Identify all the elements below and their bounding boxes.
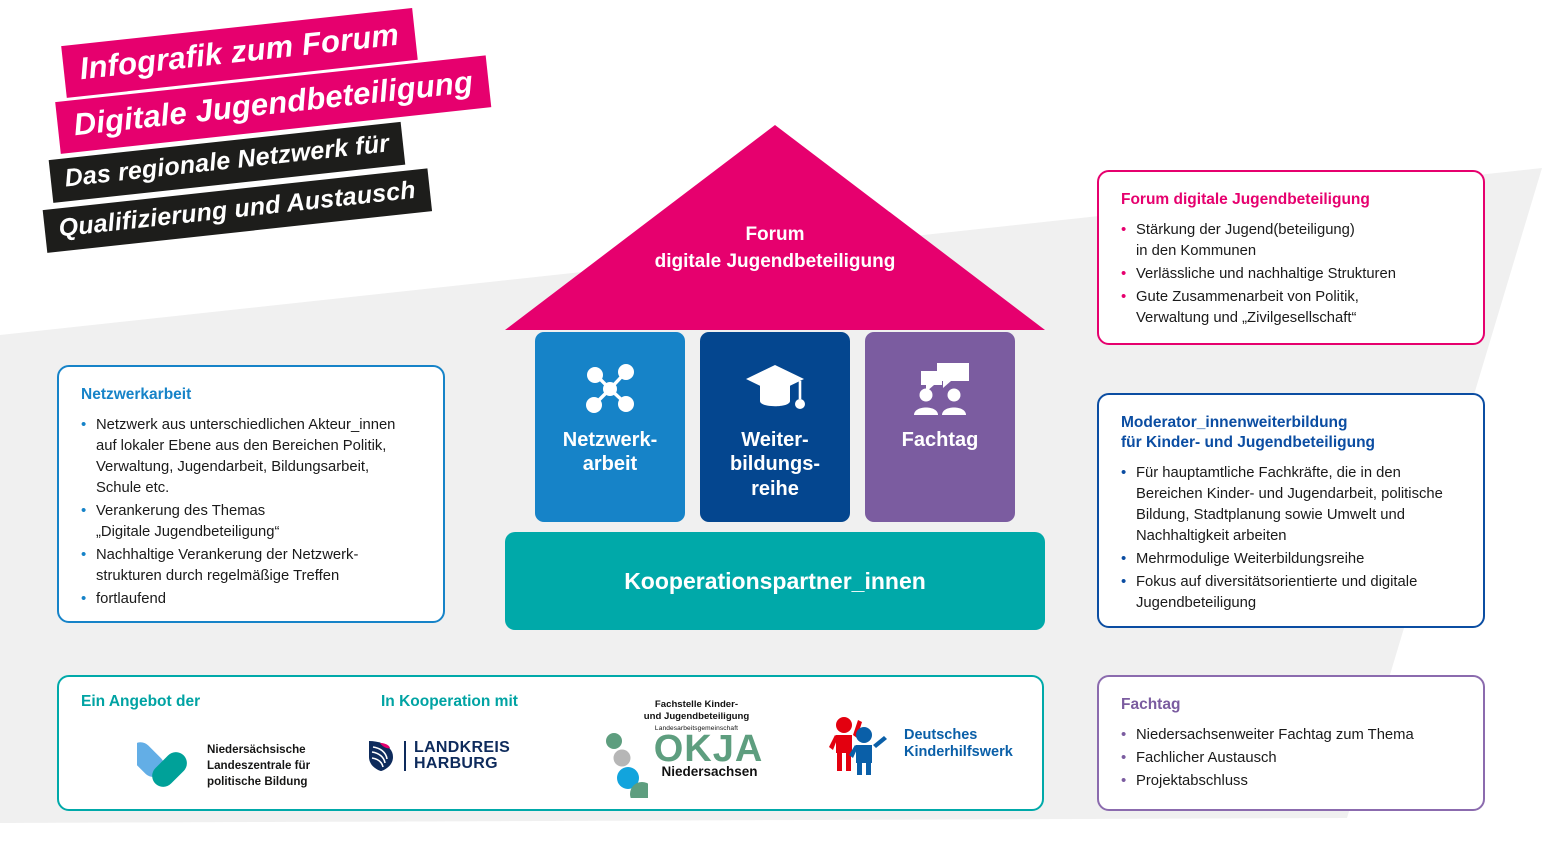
list-item: Fokus auf diversitätsorientierte und dig… [1121,572,1461,614]
logo-niedersaechsische-landeszentrale: Niedersächsische Landeszentrale für poli… [137,730,310,802]
pillar-label-netzwerkarbeit: Netzwerk- arbeit [563,428,657,477]
list-item: Fachlicher Austausch [1121,748,1461,769]
list-item: Niedersachsenweiter Fachtag zum Thema [1121,725,1461,746]
list-item: Netzwerk aus unterschiedlichen Akteur_in… [81,415,421,499]
list-item: Gute Zusammenarbeit von Politik, Verwalt… [1121,287,1461,329]
graduation-cap-icon [744,358,806,420]
card-list-moderation: Für hauptamtliche Fachkräfte, die in den… [1121,463,1461,614]
card-list-fachtag: Niedersachsenweiter Fachtag zum Thema Fa… [1121,725,1461,792]
house-roof-triangle [505,125,1045,330]
list-item: fortlaufend [81,589,421,610]
list-item: Verankerung des Themas „Digitale Jugendb… [81,501,421,543]
logo-divider [404,741,406,771]
network-nodes-icon [581,358,639,420]
pillar-fachtag[interactable]: Fachtag [865,332,1015,522]
list-item: Projektabschluss [1121,771,1461,792]
two-children-figures-icon [824,713,896,775]
card-fachtag: Fachtag Niedersachsenweiter Fachtag zum … [1097,675,1485,811]
logo-okja-niedersachsen: Fachstelle Kinder- und Jugendbeteiligung… [604,699,789,779]
logo-landkreis-harburg: LANDKREIS HARBURG [366,739,510,773]
landkreis-name: LANDKREIS HARBURG [414,740,510,773]
partner-heading-offer: Ein Angebot der [81,693,200,711]
dkhw-name: Deutsches Kinderhilfswerk [904,727,1013,760]
card-netzwerkarbeit: Netzwerkarbeit Netzwerk aus unterschiedl… [57,365,445,623]
house-base-kooperationspartner[interactable]: Kooperationspartner_innen [505,532,1045,630]
card-heading-forum: Forum digitale Jugendbeteiligung [1121,190,1461,210]
house-pillars: Netzwerk- arbeit Weiter- bildungs- reihe [535,332,1015,522]
pillar-weiterbildungsreihe[interactable]: Weiter- bildungs- reihe [700,332,850,522]
list-item: Verlässliche und nachhaltige Strukturen [1121,264,1461,285]
list-item: Für hauptamtliche Fachkräfte, die in den… [1121,463,1461,547]
nlpb-chevron-logo-icon [137,730,195,802]
partner-heading-cooperation: In Kooperation mit [381,693,518,711]
okja-wordmark: OKJA [628,732,789,767]
base-label: Kooperationspartner_innen [624,568,926,595]
pillar-label-weiterbildungsreihe: Weiter- bildungs- reihe [730,428,820,501]
list-item: Stärkung der Jugend(beteiligung) in den … [1121,220,1461,262]
card-forum-digitale-jugendbeteiligung: Forum digitale Jugendbeteiligung Stärkun… [1097,170,1485,345]
card-heading-netzwerkarbeit: Netzwerkarbeit [81,385,421,405]
card-moderator-innenweiterbildung: Moderator_innenweiterbildung für Kinder-… [1097,393,1485,628]
people-speech-bubbles-icon [909,358,971,420]
card-heading-fachtag: Fachtag [1121,695,1461,715]
okja-dots-icon [602,732,648,798]
card-list-forum: Stärkung der Jugend(beteiligung) in den … [1121,220,1461,329]
okja-heading: Fachstelle Kinder- und Jugendbeteiligung [604,699,789,724]
nlpb-name: Niedersächsische Landeszentrale für poli… [207,742,310,790]
pillar-netzwerkarbeit[interactable]: Netzwerk- arbeit [535,332,685,522]
landkreis-harburg-crest-icon [366,739,396,773]
card-list-netzwerkarbeit: Netzwerk aus unterschiedlichen Akteur_in… [81,415,421,610]
infographic-root: Infografik zum Forum Digitale Jugendbete… [0,0,1542,867]
logo-deutsches-kinderhilfswerk: Deutsches Kinderhilfswerk [824,713,1013,775]
list-item: Mehrmodulige Weiterbildungsreihe [1121,549,1461,570]
list-item: Nachhaltige Verankerung der Netzwerk- st… [81,545,421,587]
card-heading-moderation: Moderator_innenweiterbildung für Kinder-… [1121,413,1461,453]
pillar-label-fachtag: Fachtag [902,428,979,452]
partners-footer: Ein Angebot der In Kooperation mit Niede… [57,675,1044,811]
